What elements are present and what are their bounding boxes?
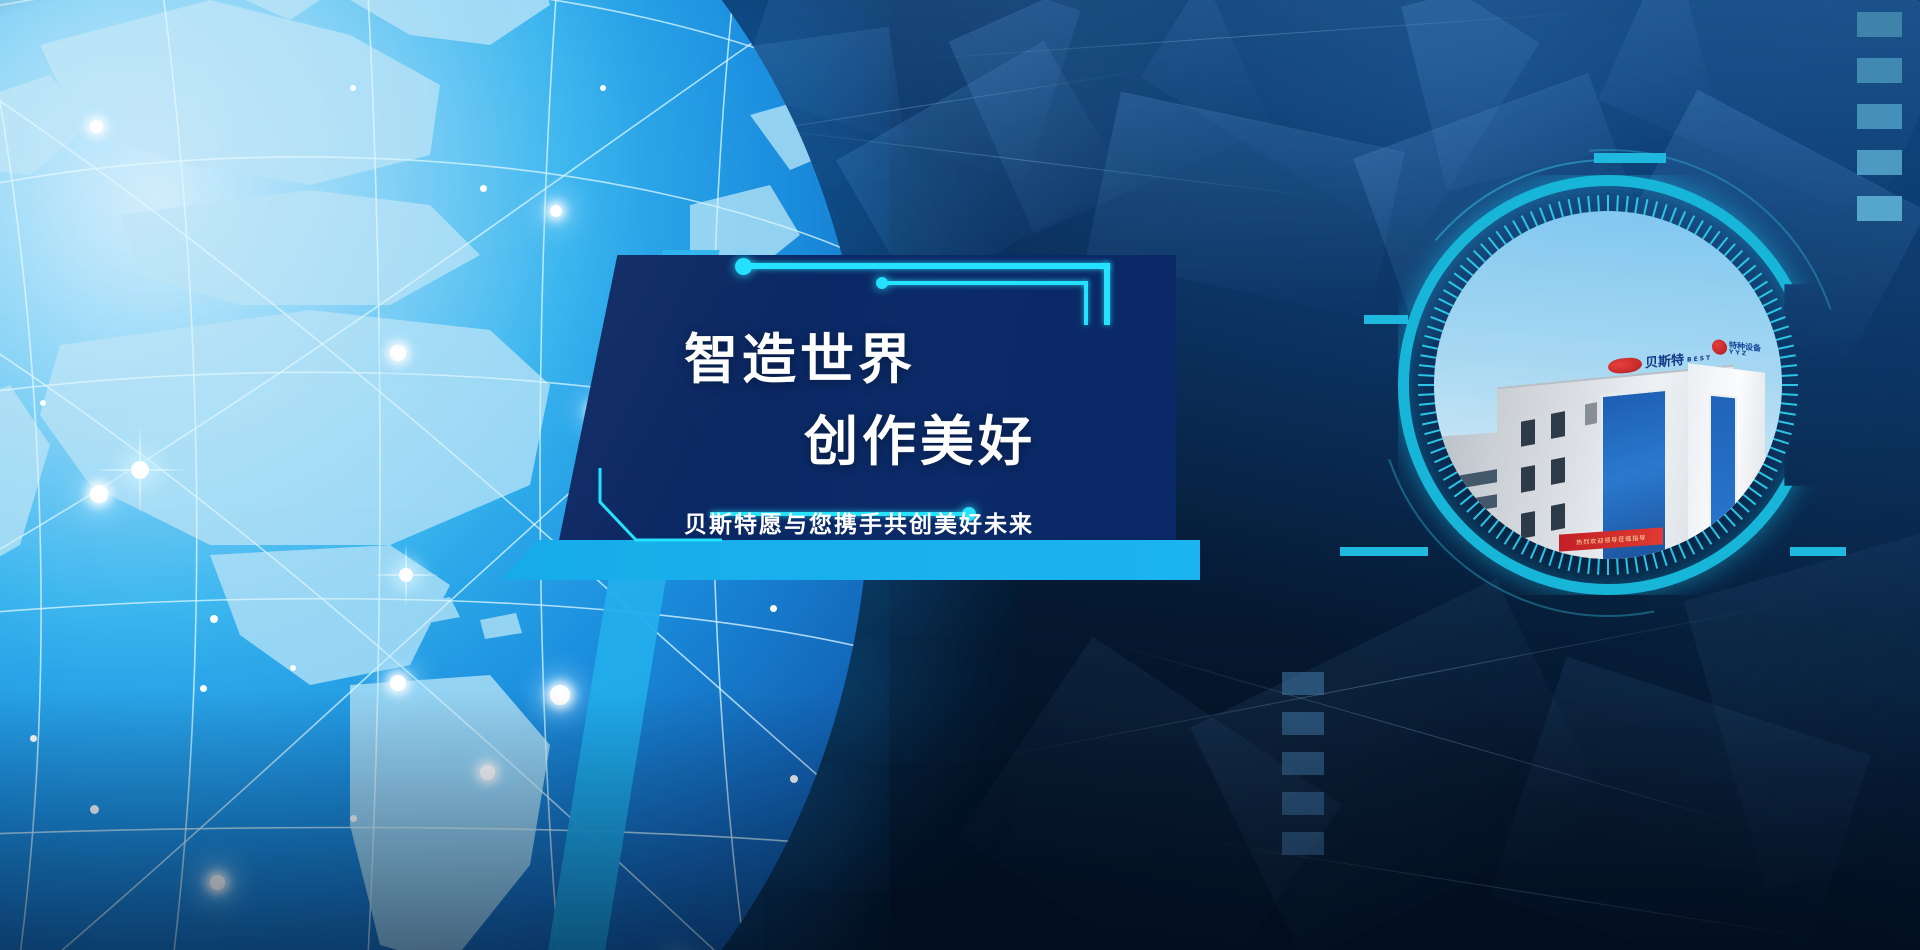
edge-marker [1857,196,1902,221]
lower-marker [1282,792,1324,815]
lower-marker-strip [1282,672,1324,855]
headquarters-photo: 贝斯特 BEST 特种设备 YYZ 热烈欢迎领导莅临指导 [1434,211,1782,559]
hud-tab-top [1594,153,1666,163]
hud-tab-left [1364,315,1408,324]
hero-banner: 智造世界 创作美好 贝斯特愿与您携手共创美好未来 [0,0,1920,950]
lower-marker [1282,672,1324,695]
sign-chinese-text: 贝斯特 [1645,354,1684,370]
building-photo-circle: 贝斯特 BEST 特种设备 YYZ 热烈欢迎领导莅临指导 [1434,211,1782,559]
headline-line-1: 智造世界 [684,315,916,394]
lower-marker [1282,712,1324,735]
headline-text-block: 智造世界 创作美好 贝斯特愿与您携手共创美好未来 [556,255,1176,555]
circular-photo-hud: 贝斯特 BEST 特种设备 YYZ 热烈欢迎领导莅临指导 [1398,175,1818,595]
headline-subtitle: 贝斯特愿与您携手共创美好未来 [684,505,1034,539]
photo-glass-strip [1709,394,1737,559]
hud-tab-bottom-right [1790,547,1846,556]
edge-marker [1857,150,1902,175]
edge-marker [1857,58,1902,83]
hud-tab-bottom-left [1340,547,1428,556]
sign-red-emblem [1608,356,1642,374]
right-edge-marker-strip [1857,12,1902,221]
sign-english-text: BEST [1687,354,1712,363]
edge-marker [1857,12,1902,37]
edge-marker [1857,104,1902,129]
lower-marker [1282,752,1324,775]
lower-marker [1282,832,1324,855]
headline-line-2: 创作美好 [804,397,1036,476]
sign-red-circle-logo [1712,340,1727,357]
